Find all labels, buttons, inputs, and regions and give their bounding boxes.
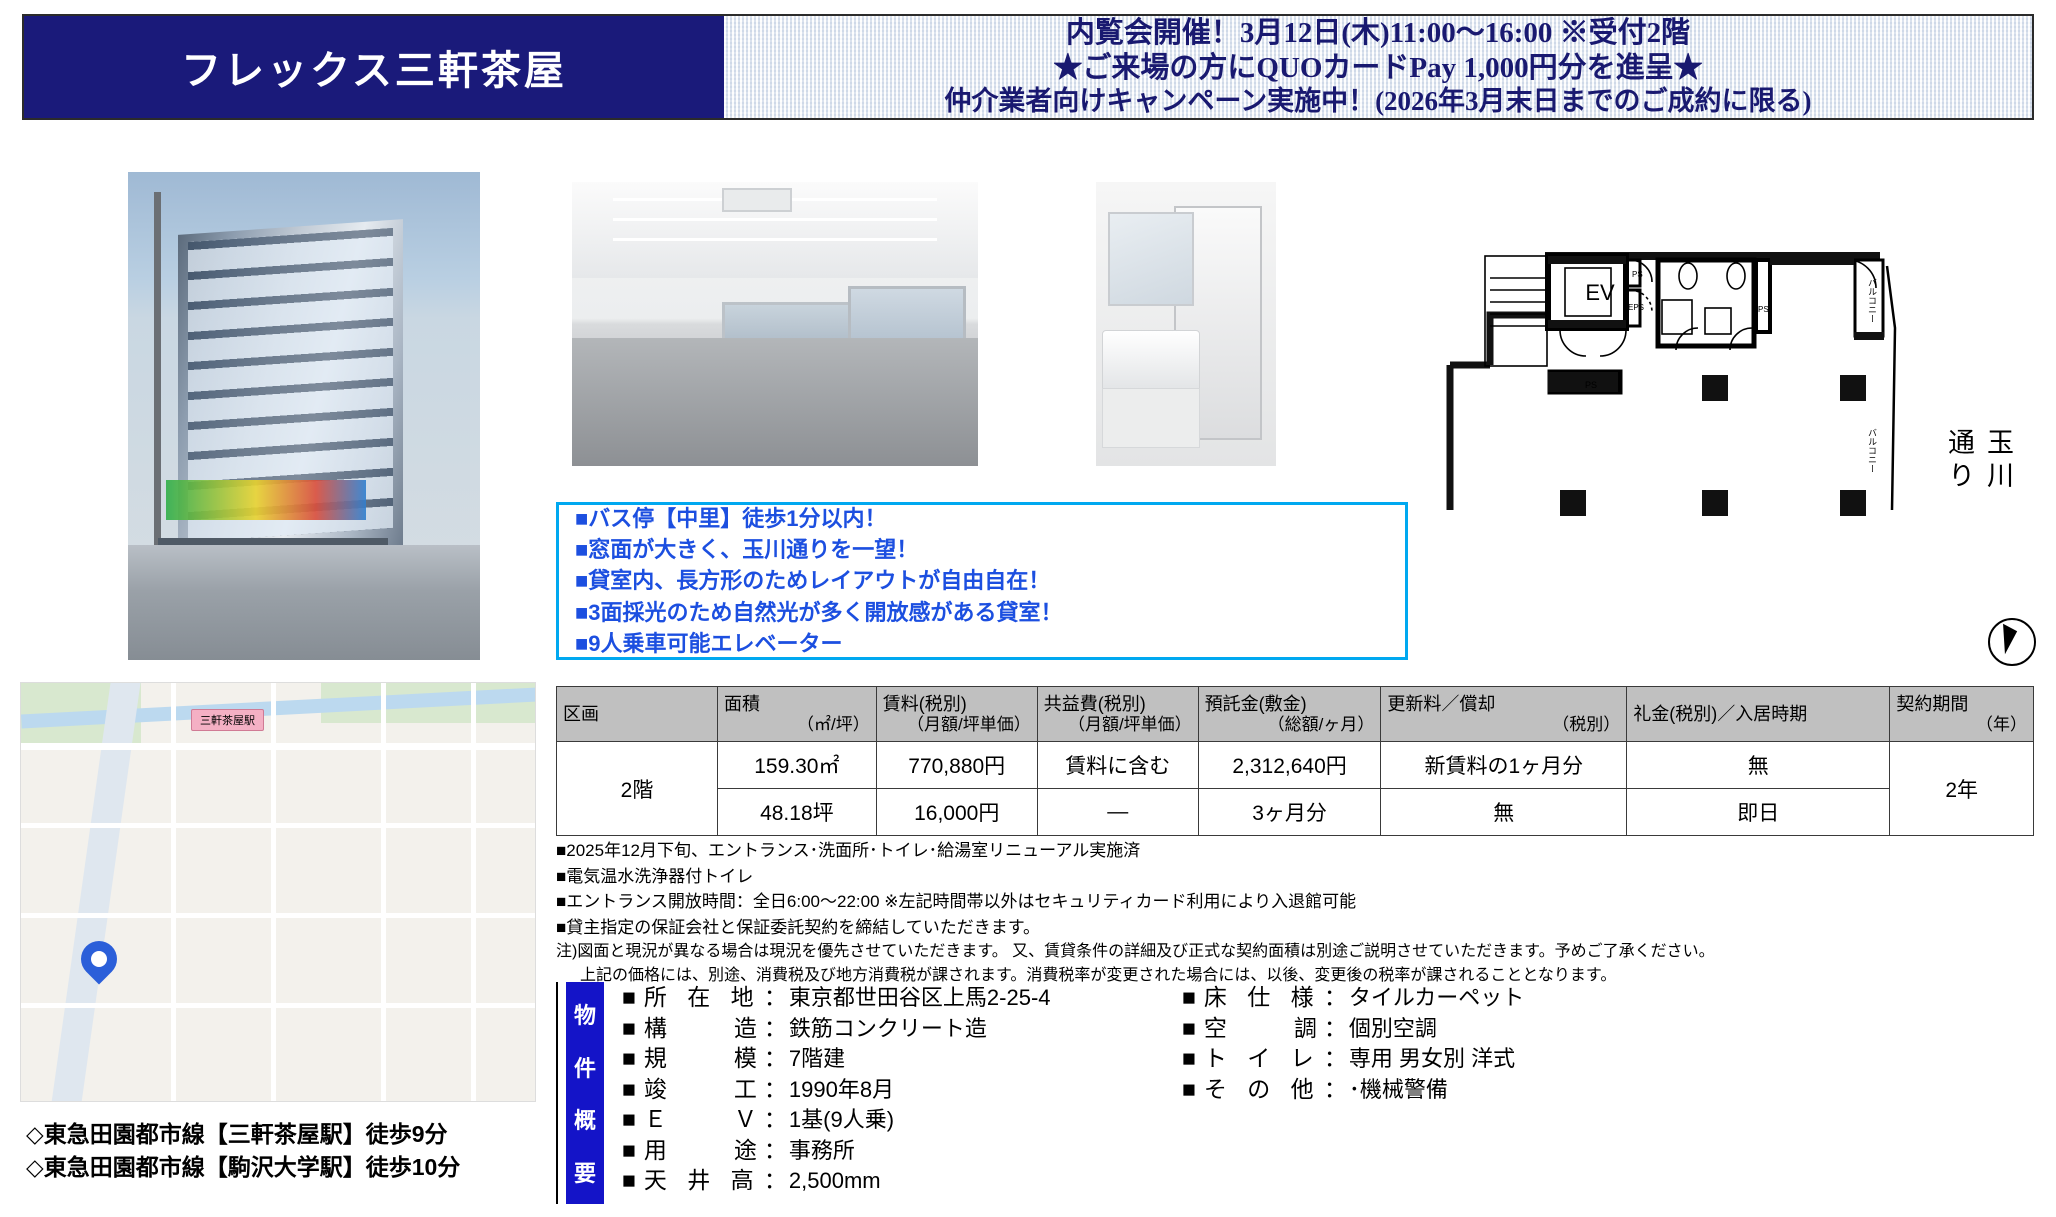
- bullet-square-icon: ■: [622, 1104, 636, 1135]
- header: フレックス三軒茶屋 内覧会開催！3月12日(木)11:00〜16:00 ※受付2…: [22, 14, 2034, 120]
- overview-row-ceiling: ■ 天 井 高 ： 2,500mm: [622, 1165, 1182, 1196]
- banner-line-2: ★ご来場の方にQUOカードPay 1,000円分を進呈★: [1053, 52, 1702, 84]
- map-road: [21, 913, 536, 918]
- feature-item: ■3面採光のため自然光が多く開放感がある貸室！: [575, 597, 1389, 628]
- bullet-square-icon: ■: [1182, 1043, 1196, 1074]
- tab-char: 概: [574, 1103, 596, 1135]
- overview-row-address: ■ 所 在 地 ： 東京都世田谷区上馬2-25-4: [622, 982, 1182, 1013]
- table-row: 2階 159.30㎡ 770,880円 賃料に含む 2,312,640円 新賃料…: [557, 742, 2034, 789]
- carpet-floor: [572, 338, 978, 466]
- disclaimer-line: 注)図面と現況が異なる場合は現況を優先させていただきます。 又、賃貸条件の詳細及…: [556, 940, 2034, 964]
- overview-row-toilet: ■ ト イ レ ： 専用 男女別 洋式: [1182, 1043, 1524, 1074]
- cell-deposit-months: 3ヶ月分: [1198, 789, 1381, 836]
- th-term: 契約期間 （年）: [1890, 687, 2034, 742]
- banner-line-3: 仲介業者向けキャンペーン実施中！(2026年3月末日までのご成約に限る): [944, 86, 1811, 116]
- overview-col-left: ■ 所 在 地 ： 東京都世田谷区上馬2-25-4 ■ 構 造 ： 鉄筋コンクリ…: [622, 982, 1182, 1204]
- station-access-list: ◇東急田園都市線【三軒茶屋駅】徒歩9分 ◇東急田園都市線【駒沢大学駅】徒歩10分: [26, 1118, 526, 1183]
- overview-row-floor-finish: ■ 床 仕 様 ： タイルカーペット: [1182, 982, 1524, 1013]
- cell-area-sqm: 159.30㎡: [717, 742, 876, 789]
- sink-basin: [1102, 330, 1200, 392]
- vanity-cabinet: [1102, 388, 1200, 448]
- note-item: ■エントランス開放時間：全日6:00〜22:00 ※左記時間帯以外はセキュリティ…: [556, 889, 2034, 915]
- property-overview: 物 件 概 要 ■ 所 在 地 ： 東京都世田谷区上馬2-25-4 ■ 構 造 …: [566, 982, 2034, 1204]
- notes-list: ■2025年12月下旬、エントランス･洗面所･トイレ･給湯室リニューアル実施済 …: [556, 838, 2034, 940]
- th-renewal: 更新料／償却 （税別）: [1381, 687, 1627, 742]
- bullet-square-icon: ■: [1182, 1013, 1196, 1044]
- overview-row-elevator: ■ Ｅ Ｖ ： 1基(9人乗): [622, 1104, 1182, 1135]
- access-line: ◇東急田園都市線【駒沢大学駅】徒歩10分: [26, 1151, 526, 1184]
- tab-char: 物: [574, 998, 596, 1030]
- feature-item: ■9人乗車可能エレベーター: [575, 628, 1389, 659]
- cell-rent-tsubo: 16,000円: [876, 789, 1037, 836]
- th-area: 面積 （㎡/坪）: [717, 687, 876, 742]
- overview-row-hvac: ■ 空 調 ： 個別空調: [1182, 1013, 1524, 1044]
- cell-cam-monthly: 賃料に含む: [1037, 742, 1198, 789]
- air-conditioner-unit: [722, 188, 792, 212]
- cell-cam-tsubo: —: [1037, 789, 1198, 836]
- map-road: [21, 823, 536, 828]
- cell-move-in: 即日: [1627, 789, 1890, 836]
- overview-row-scale: ■ 規 模 ： 7階建: [622, 1043, 1182, 1074]
- disclaimer-block: 注)図面と現況が異なる場合は現況を優先させていただきます。 又、賃貸条件の詳細及…: [556, 940, 2034, 987]
- map-road: [21, 743, 536, 750]
- ps-label-3: PS: [1585, 380, 1597, 390]
- map-road: [171, 683, 176, 1102]
- mirror: [1108, 212, 1194, 306]
- page-title: フレックス三軒茶屋: [181, 38, 567, 96]
- bullet-square-icon: ■: [622, 1013, 636, 1044]
- compass-north-icon: [1988, 618, 2036, 666]
- cell-deposit-total: 2,312,640円: [1198, 742, 1381, 789]
- note-item: ■2025年12月下旬、エントランス･洗面所･トイレ･給湯室リニューアル実施済: [556, 838, 2034, 864]
- ps-label-1: PS: [1632, 270, 1643, 279]
- bullet-square-icon: ■: [622, 1135, 636, 1166]
- exterior-photo: [128, 172, 480, 660]
- street-surface: [128, 545, 480, 660]
- location-map[interactable]: 三軒茶屋駅: [20, 682, 536, 1102]
- table-header-row: 区画 面積 （㎡/坪） 賃料(税別) （月額/坪単価） 共益費(税別) （月額/…: [557, 687, 2034, 742]
- overview-row-other: ■ そ の 他 ： ･機械警備: [1182, 1074, 1524, 1105]
- shop-signage: [166, 480, 366, 520]
- th-rent: 賃料(税別) （月額/坪単価）: [876, 687, 1037, 742]
- table-row: 48.18坪 16,000円 — 3ヶ月分 無 即日: [557, 789, 2034, 836]
- feature-item: ■貸室内、長方形のためレイアウトが自由自在！: [575, 565, 1389, 596]
- feature-item: ■窓面が大きく、玉川通りを一望！: [575, 534, 1389, 565]
- cell-key-money: 無: [1627, 742, 1890, 789]
- map-road: [21, 1003, 536, 1008]
- feature-highlight-box: ■バス停【中里】徒歩1分以内！ ■窓面が大きく、玉川通りを一望！ ■貸室内、長方…: [556, 502, 1408, 660]
- overview-row-completion: ■ 竣 工 ： 1990年8月: [622, 1074, 1182, 1105]
- office-interior-photo: [572, 182, 978, 466]
- note-item: ■貸主指定の保証会社と保証委託契約を締結していただきます。: [556, 915, 2034, 941]
- cell-area-tsubo: 48.18坪: [717, 789, 876, 836]
- cell-unit: 2階: [557, 742, 718, 836]
- price-table: 区画 面積 （㎡/坪） 賃料(税別) （月額/坪単価） 共益費(税別) （月額/…: [556, 686, 2034, 836]
- bullet-square-icon: ■: [1182, 1074, 1196, 1105]
- balcony-label-2: バルコニー: [1867, 428, 1877, 473]
- map-road: [271, 683, 276, 1102]
- map-station-label: 三軒茶屋駅: [191, 709, 264, 731]
- cell-rent-monthly: 770,880円: [876, 742, 1037, 789]
- campaign-banner: 内覧会開催！3月12日(木)11:00〜16:00 ※受付2階 ★ご来場の方にQ…: [724, 16, 2032, 118]
- ps-label-2: PS: [1758, 305, 1769, 314]
- overview-row-usage: ■ 用 途 ： 事務所: [622, 1135, 1182, 1166]
- property-title-block: フレックス三軒茶屋: [24, 16, 724, 118]
- flyer-page: フレックス三軒茶屋 内覧会開催！3月12日(木)11:00〜16:00 ※受付2…: [0, 0, 2056, 1217]
- balcony-label: バルコニー: [1867, 278, 1877, 323]
- bullet-square-icon: ■: [622, 1074, 636, 1105]
- overview-divider: [556, 982, 558, 1204]
- th-deposit: 預託金(敷金) （総額/ヶ月）: [1198, 687, 1381, 742]
- ev-label: EV: [1585, 280, 1615, 305]
- bullet-square-icon: ■: [1182, 982, 1196, 1013]
- cell-renewal-fee: 新賃料の1ヶ月分: [1381, 742, 1627, 789]
- feature-item: ■バス停【中里】徒歩1分以内！: [575, 503, 1389, 534]
- cell-amortization: 無: [1381, 789, 1627, 836]
- floor-plan: EV PS EPS PS PS バルコニー バルコニー 玉川通り: [1440, 160, 2040, 520]
- bullet-square-icon: ■: [622, 1165, 636, 1196]
- access-line: ◇東急田園都市線【三軒茶屋駅】徒歩9分: [26, 1118, 526, 1151]
- overview-col-right: ■ 床 仕 様 ： タイルカーペット ■ 空 調 ： 個別空調 ■ ト イ レ …: [1182, 982, 1524, 1204]
- th-section: 区画: [557, 687, 718, 742]
- bullet-square-icon: ■: [622, 982, 636, 1013]
- th-cam: 共益費(税別) （月額/坪単価）: [1037, 687, 1198, 742]
- banner-line-1: 内覧会開催！3月12日(木)11:00〜16:00 ※受付2階: [1066, 17, 1690, 49]
- eps-label: EPS: [1628, 303, 1644, 312]
- bullet-square-icon: ■: [622, 1043, 636, 1074]
- overview-row-structure: ■ 構 造 ： 鉄筋コンクリート造: [622, 1013, 1182, 1044]
- cell-contract-term: 2年: [1890, 742, 2034, 836]
- tab-char: 件: [574, 1051, 596, 1083]
- tab-char: 要: [574, 1156, 596, 1188]
- map-road: [381, 683, 386, 1102]
- th-keymoney: 礼金(税別)／入居時期: [1627, 687, 1890, 742]
- washroom-photo: [1096, 182, 1276, 466]
- map-road: [471, 683, 476, 1102]
- street-name-label: 玉川通り: [1984, 428, 2018, 520]
- overview-body: ■ 所 在 地 ： 東京都世田谷区上馬2-25-4 ■ 構 造 ： 鉄筋コンクリ…: [604, 982, 2034, 1204]
- overview-tab-label: 物 件 概 要: [566, 982, 604, 1204]
- note-item: ■電気温水洗浄器付トイレ: [556, 864, 2034, 890]
